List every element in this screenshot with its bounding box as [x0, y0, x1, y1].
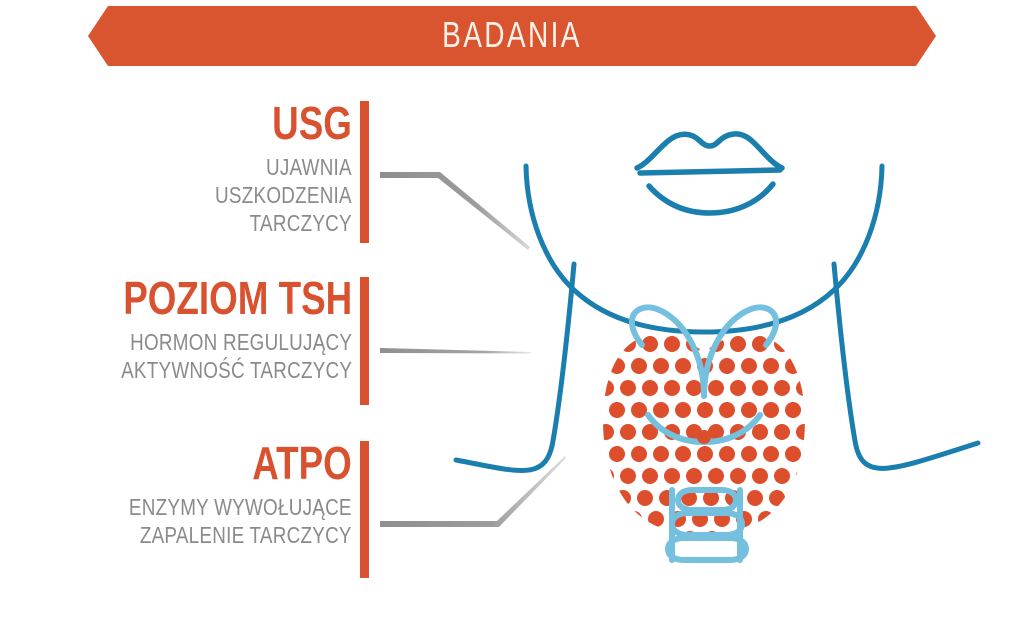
thyroid-gland [587, 307, 823, 560]
block-subtitle-usg: UJAWNIA USZKODZENIA TARCZYCY [185, 153, 352, 237]
block-subtitle-atpo: ENZYMY WYWOŁUJĄCE ZAPALENIE TARCZYCY [80, 493, 352, 549]
connector-line-usg [380, 172, 530, 250]
subtitle-line: UJAWNIA [215, 153, 352, 181]
subtitle-line: ENZYMY WYWOŁUJĄCE [129, 493, 352, 521]
page-title: BADANIA [181, 6, 842, 66]
divider-bar-usg [360, 101, 369, 243]
connector-line-atpo [380, 456, 566, 527]
neck-outline [456, 166, 978, 471]
divider-bar-tsh [360, 277, 369, 405]
block-subtitle-tsh: HORMON REGULUJĄCY AKTYWNOŚĆ TARCZYCY [66, 328, 352, 384]
block-heading-tsh: POZIOM TSH [123, 275, 352, 322]
info-block-tsh: POZIOM TSH HORMON REGULUJĄCY AKTYWNOŚĆ T… [66, 275, 352, 384]
thyroid-lobe-outline [632, 307, 776, 444]
block-heading-atpo: ATPO [135, 440, 352, 487]
subtitle-line: USZKODZENIA [215, 181, 352, 209]
info-block-usg: USG UJAWNIA USZKODZENIA TARCZYCY [185, 100, 352, 237]
block-heading-usg: USG [219, 100, 353, 147]
subtitle-line: ZAPALENIE TARCZYCY [129, 521, 352, 549]
subtitle-line: TARCZYCY [215, 209, 352, 237]
lips-icon [637, 134, 782, 213]
subtitle-line: AKTYWNOŚĆ TARCZYCY [117, 356, 352, 384]
trachea [668, 490, 746, 560]
infographic-page: BADANIA USG UJAWNIA USZKODZENIA TARCZYCY… [0, 0, 1024, 636]
subtitle-line: HORMON REGULUJĄCY [117, 328, 352, 356]
thyroid-follicle-dots [587, 336, 823, 547]
info-block-atpo: ATPO ENZYMY WYWOŁUJĄCE ZAPALENIE TARCZYC… [80, 440, 352, 549]
divider-bar-atpo [360, 441, 369, 578]
header-banner: BADANIA [88, 6, 936, 66]
connector-line-tsh [380, 348, 531, 354]
